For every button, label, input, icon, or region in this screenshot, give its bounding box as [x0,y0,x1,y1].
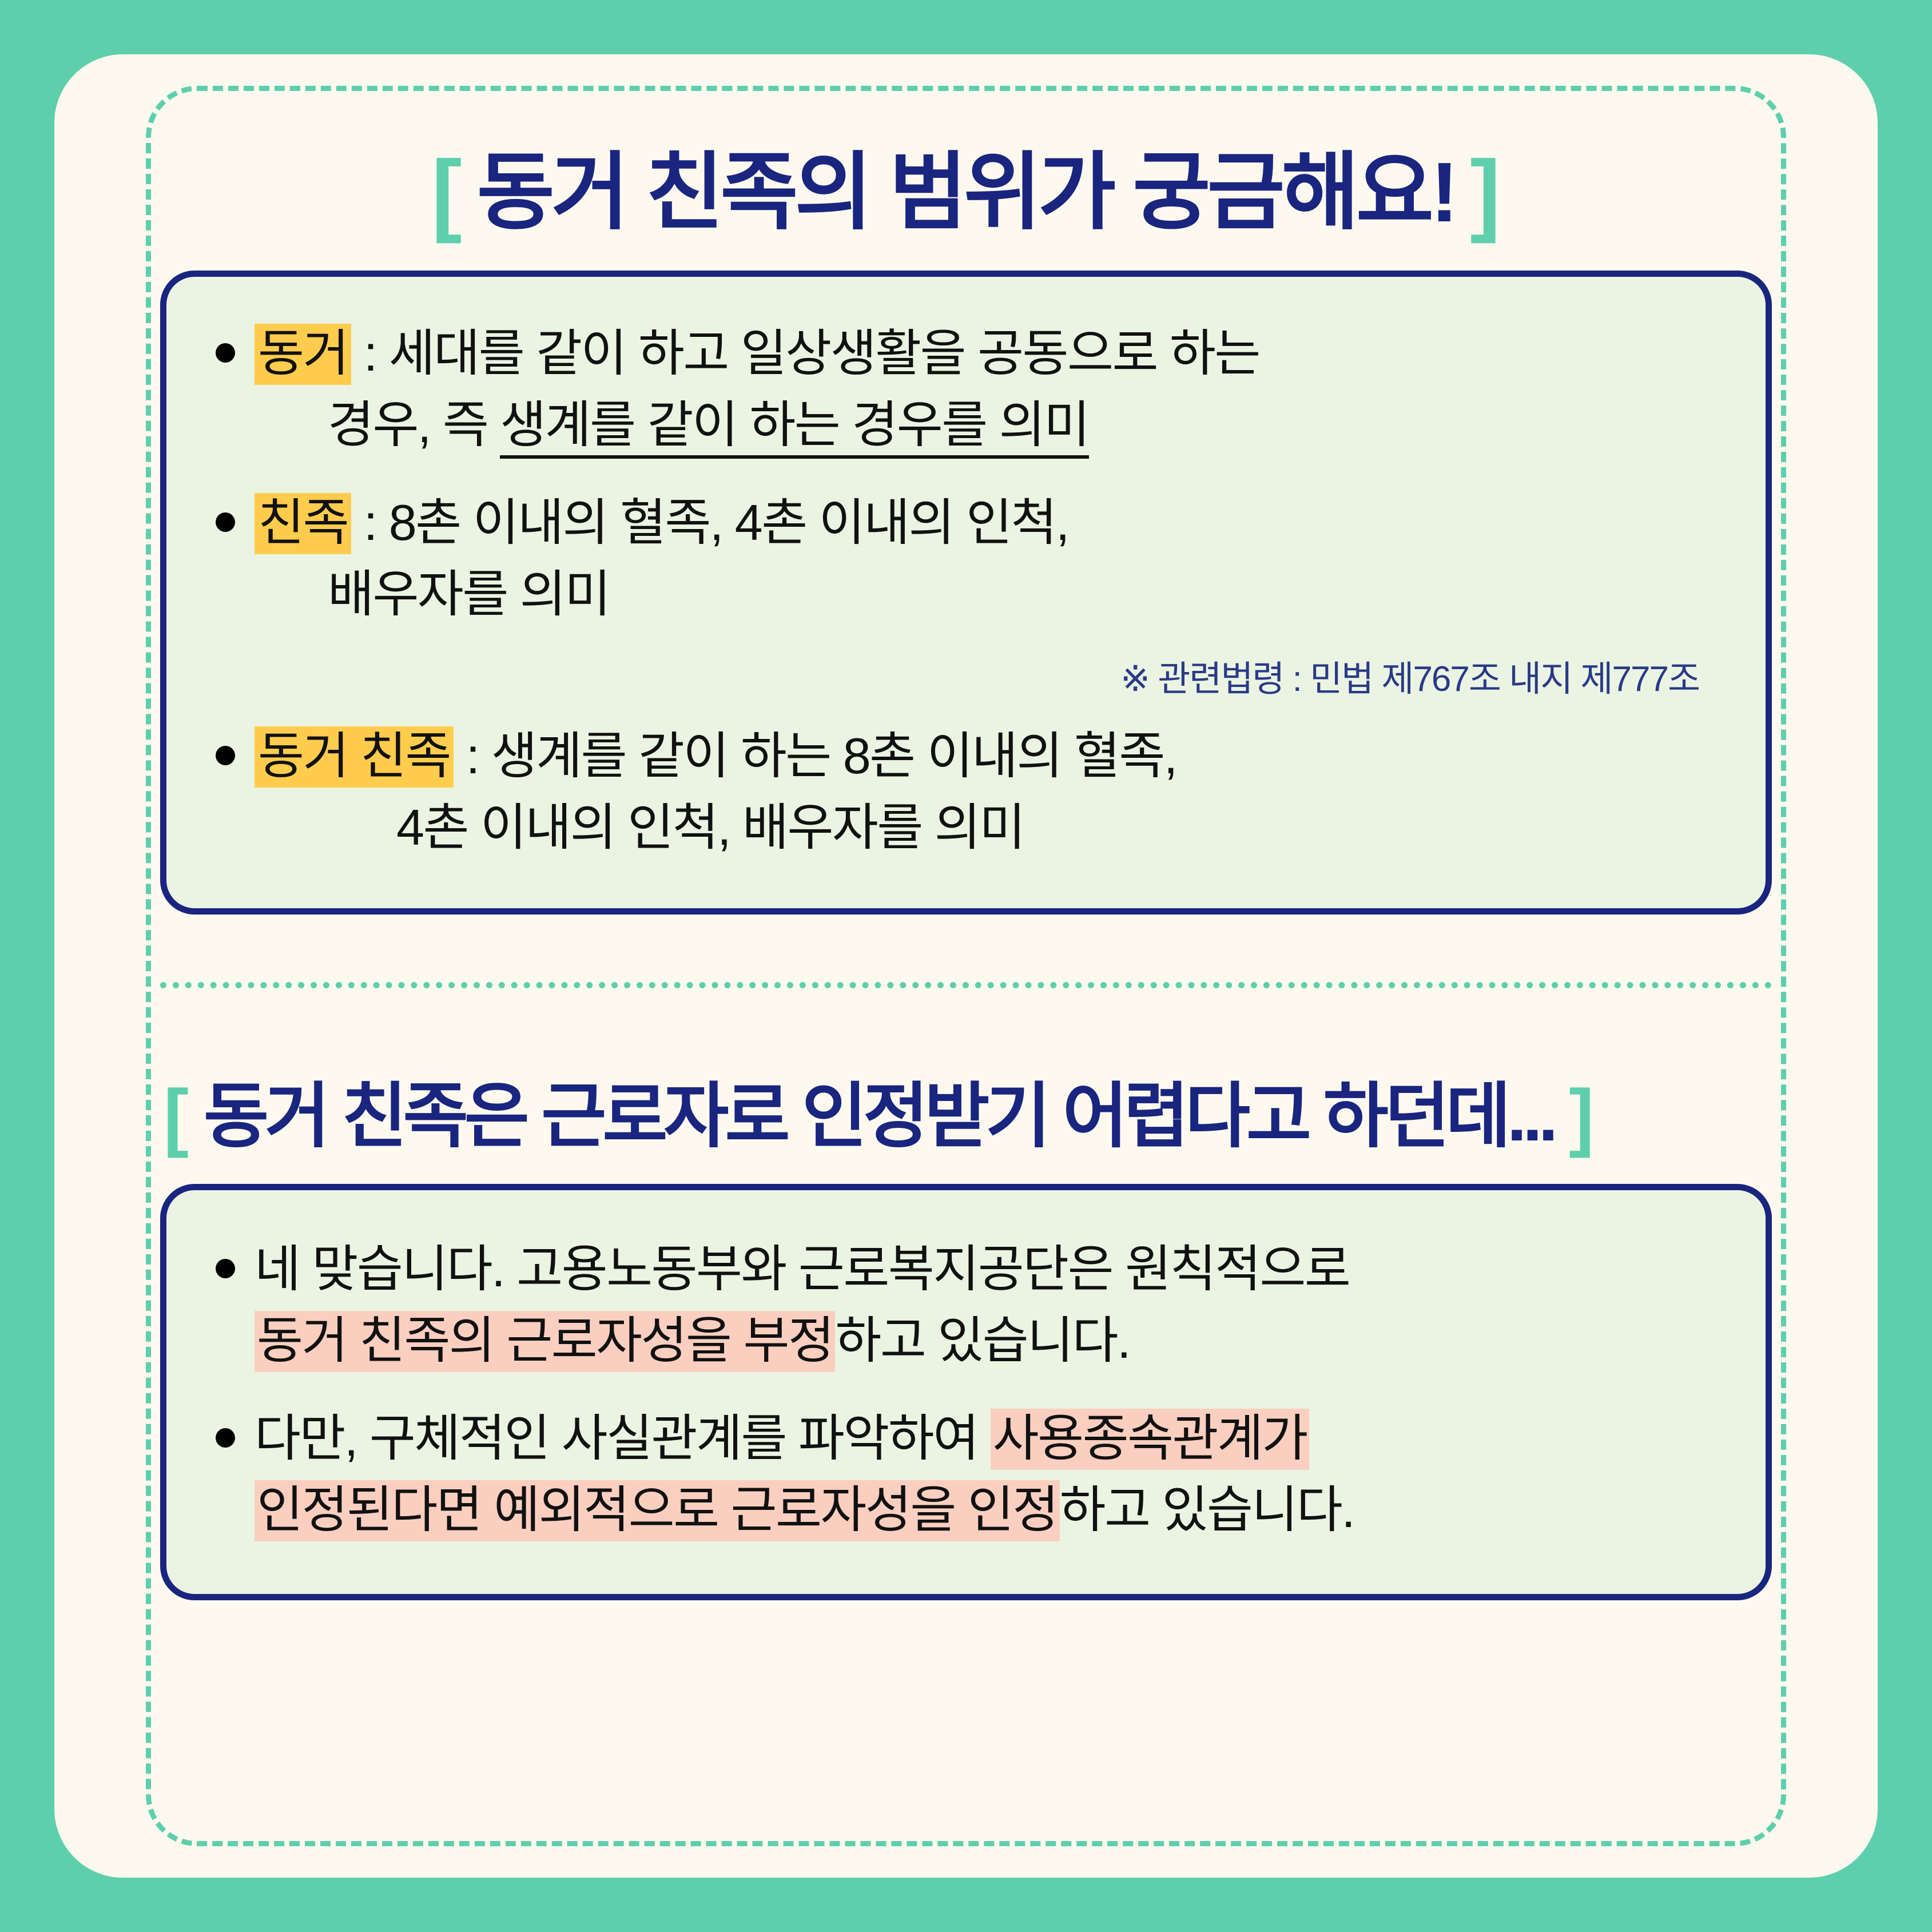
bullet-4-line1: 네 맞습니다. 고용노동부와 근로복지공단은 원칙적으로 [255,1234,1726,1305]
term-highlight-chinjok: 친족 [255,493,351,554]
poster-content: [ 동거 친족의 범위가 궁금해요! ] 동거 : 세대를 같이 하고 일상생활… [54,54,1878,1878]
list-item: 네 맞습니다. 고용노동부와 근로복지공단은 원칙적으로 동거 친족의 근로자성… [206,1234,1726,1377]
bullet-4-text: 네 맞습니다. 고용노동부와 근로복지공단은 원칙적으로 동거 친족의 근로자성… [255,1234,1726,1377]
section2-heading: [ 동거 친족은 근로자로 인정받기 어렵다고 하던데... ] [160,1081,1772,1152]
bullet-5-line1-plain: 다만, 구체적인 사실관계를 파악하여 [255,1410,991,1466]
bullet-3-text: 동거 친족 : 생계를 같이 하는 8촌 이내의 혈족, 4촌 이내의 인척, … [255,721,1726,864]
section2-heading-text: 동거 친족은 근로자로 인정받기 어렵다고 하던데... [204,1081,1554,1152]
highlight-pink-subordination: 사용종속관계가 [991,1409,1309,1470]
spacer [206,461,1726,487]
poster-card: [ 동거 친족의 범위가 궁금해요! ] 동거 : 세대를 같이 하고 일상생활… [54,54,1878,1878]
bracket-open-icon: [ [431,154,462,232]
highlight-pink-denial: 동거 친족의 근로자성을 부정 [255,1311,835,1372]
spacer [206,1377,1726,1403]
bullet-2-line2: 배우자를 의미 [255,559,1726,630]
bullet-2-line1-rest: : 8촌 이내의 혈족, 4촌 이내의 인척, [351,494,1068,551]
bullet-dot-icon [216,1428,235,1448]
term-highlight-donggeo: 동거 [255,324,351,385]
section1-content-box: 동거 : 세대를 같이 하고 일상생활을 공동으로 하는 경우, 즉 생계를 같… [160,271,1772,915]
section2-content-box: 네 맞습니다. 고용노동부와 근로복지공단은 원칙적으로 동거 친족의 근로자성… [160,1184,1772,1600]
list-item: 동거 : 세대를 같이 하고 일상생활을 공동으로 하는 경우, 즉 생계를 같… [206,318,1726,461]
bullet-dot-icon [216,512,235,532]
bullet-dot-icon [216,746,235,765]
bullet-2-text: 친족 : 8촌 이내의 혈족, 4촌 이내의 인척, 배우자를 의미 [255,487,1726,630]
bullet-5-line2-rest: 하고 있습니다. [1060,1481,1354,1538]
list-item: 친족 : 8촌 이내의 혈족, 4촌 이내의 인척, 배우자를 의미 [206,487,1726,630]
highlight-pink-exception: 인정된다면 예외적으로 근로자성을 인정 [255,1480,1060,1541]
term-highlight-donggeo-chinjok: 동거 친족 [255,726,454,788]
bullet-dot-icon [216,343,235,363]
bullet-3-line2: 4촌 이내의 인척, 배우자를 의미 [255,792,1726,864]
section1-heading-text: 동거 친족의 범위가 궁금해요! [477,150,1456,235]
list-item: 동거 친족 : 생계를 같이 하는 8촌 이내의 혈족, 4촌 이내의 인척, … [206,721,1726,864]
legal-reference-note: ※ 관련법령 : 민법 제767조 내지 제777조 [206,650,1699,701]
bullet-1-line2-plain: 경우, 즉 [328,396,500,453]
spacer [206,701,1726,721]
bullet-4-line2-rest: 하고 있습니다. [835,1312,1130,1369]
bracket-close-icon: ] [1569,1084,1594,1148]
bullet-1-line1-rest: : 세대를 같이 하고 일상생활을 공동으로 하는 [351,325,1259,381]
bullet-1-text: 동거 : 세대를 같이 하고 일상생활을 공동으로 하는 경우, 즉 생계를 같… [255,318,1726,461]
bullet-5-text: 다만, 구체적인 사실관계를 파악하여 사용종속관계가 인정된다면 예외적으로 … [255,1403,1726,1546]
section-divider [160,982,1772,988]
bullet-dot-icon [216,1259,235,1278]
section1-heading: [ 동거 친족의 범위가 궁금해요! ] [160,150,1772,235]
bracket-close-icon: ] [1470,154,1500,232]
bullet-3-line1-rest: : 생계를 같이 하는 8촌 이내의 혈족, [454,728,1176,784]
bracket-open-icon: [ [164,1084,189,1148]
bullet-1-line2-underlined: 생계를 같이 하는 경우를 의미 [500,396,1088,459]
list-item: 다만, 구체적인 사실관계를 파악하여 사용종속관계가 인정된다면 예외적으로 … [206,1403,1726,1546]
